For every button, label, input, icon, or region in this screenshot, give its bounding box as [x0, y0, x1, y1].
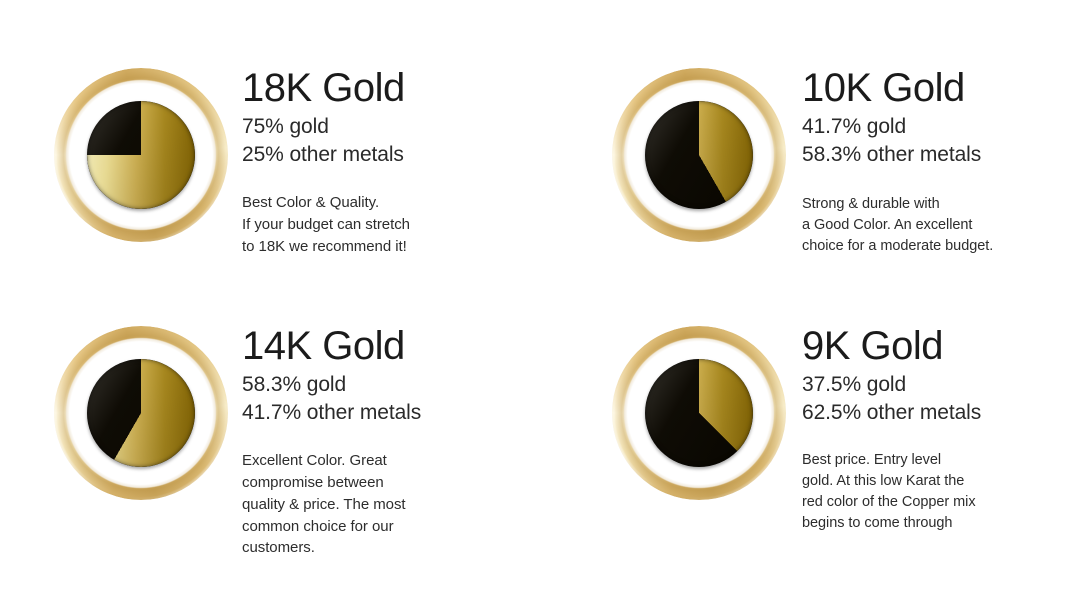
description-line: to 18K we recommend it! [242, 236, 542, 258]
pie-slice-gold [87, 101, 195, 209]
gold-ring-emblem-18k [52, 66, 230, 244]
pie-chart-18k [87, 101, 195, 209]
pie-chart-10k [645, 101, 753, 209]
pie-chart-14k [87, 359, 195, 467]
gold-percentage: 41.7% gold [802, 113, 1080, 142]
gold-percentage: 75% gold [242, 113, 542, 142]
description-line: Excellent Color. Great [242, 450, 542, 472]
karat-title: 9K Gold [802, 326, 1080, 367]
description-line: red color of the Copper mix [802, 492, 1080, 513]
pie-slice-gold [645, 101, 753, 209]
other-metals-percentage: 25% other metals [242, 141, 542, 170]
gold-ring-emblem-14k [52, 324, 230, 502]
pie-slice-gold [645, 359, 753, 467]
karat-title: 18K Gold [242, 68, 542, 109]
description-line: Strong & durable with [802, 194, 1080, 215]
gold-percentage: 58.3% gold [242, 371, 542, 400]
description-line: gold. At this low Karat the [802, 471, 1080, 492]
description-line: Best Color & Quality. [242, 192, 542, 214]
other-metals-percentage: 62.5% other metals [802, 399, 1080, 428]
karat-description: Best Color & Quality. If your budget can… [242, 192, 542, 258]
karat-text-18k: 18K Gold 75% gold 25% other metals Best … [242, 62, 542, 258]
gold-percentage: 37.5% gold [802, 371, 1080, 400]
karat-description: Strong & durable with a Good Color. An e… [802, 194, 1080, 257]
description-line: quality & price. The most [242, 494, 542, 516]
other-metals-percentage: 58.3% other metals [802, 141, 1080, 170]
description-line: Best price. Entry level [802, 450, 1080, 471]
description-line: a Good Color. An excellent [802, 215, 1080, 236]
description-line: begins to come through [802, 513, 1080, 534]
pie-chart-9k [645, 359, 753, 467]
gold-ring-emblem-9k [610, 324, 788, 502]
description-line: customers. [242, 537, 542, 559]
other-metals-percentage: 41.7% other metals [242, 399, 542, 428]
karat-text-14k: 14K Gold 58.3% gold 41.7% other metals E… [242, 320, 542, 559]
description-line: common choice for our [242, 516, 542, 538]
karat-description: Excellent Color. Great compromise betwee… [242, 450, 542, 559]
karat-card-18k: 18K Gold 75% gold 25% other metals Best … [52, 62, 562, 320]
karat-card-9k: 9K Gold 37.5% gold 62.5% other metals Be… [610, 320, 1080, 578]
description-line: compromise between [242, 472, 542, 494]
karat-comparison-grid: 18K Gold 75% gold 25% other metals Best … [0, 0, 1080, 609]
karat-card-14k: 14K Gold 58.3% gold 41.7% other metals E… [52, 320, 562, 578]
karat-description: Best price. Entry level gold. At this lo… [802, 450, 1080, 535]
karat-title: 10K Gold [802, 68, 1080, 109]
gold-ring-emblem-10k [610, 66, 788, 244]
karat-text-10k: 10K Gold 41.7% gold 58.3% other metals S… [802, 62, 1080, 257]
description-line: choice for a moderate budget. [802, 236, 1080, 257]
karat-title: 14K Gold [242, 326, 542, 367]
pie-slice-gold [87, 359, 195, 467]
karat-text-9k: 9K Gold 37.5% gold 62.5% other metals Be… [802, 320, 1080, 535]
karat-card-10k: 10K Gold 41.7% gold 58.3% other metals S… [610, 62, 1080, 320]
description-line: If your budget can stretch [242, 214, 542, 236]
